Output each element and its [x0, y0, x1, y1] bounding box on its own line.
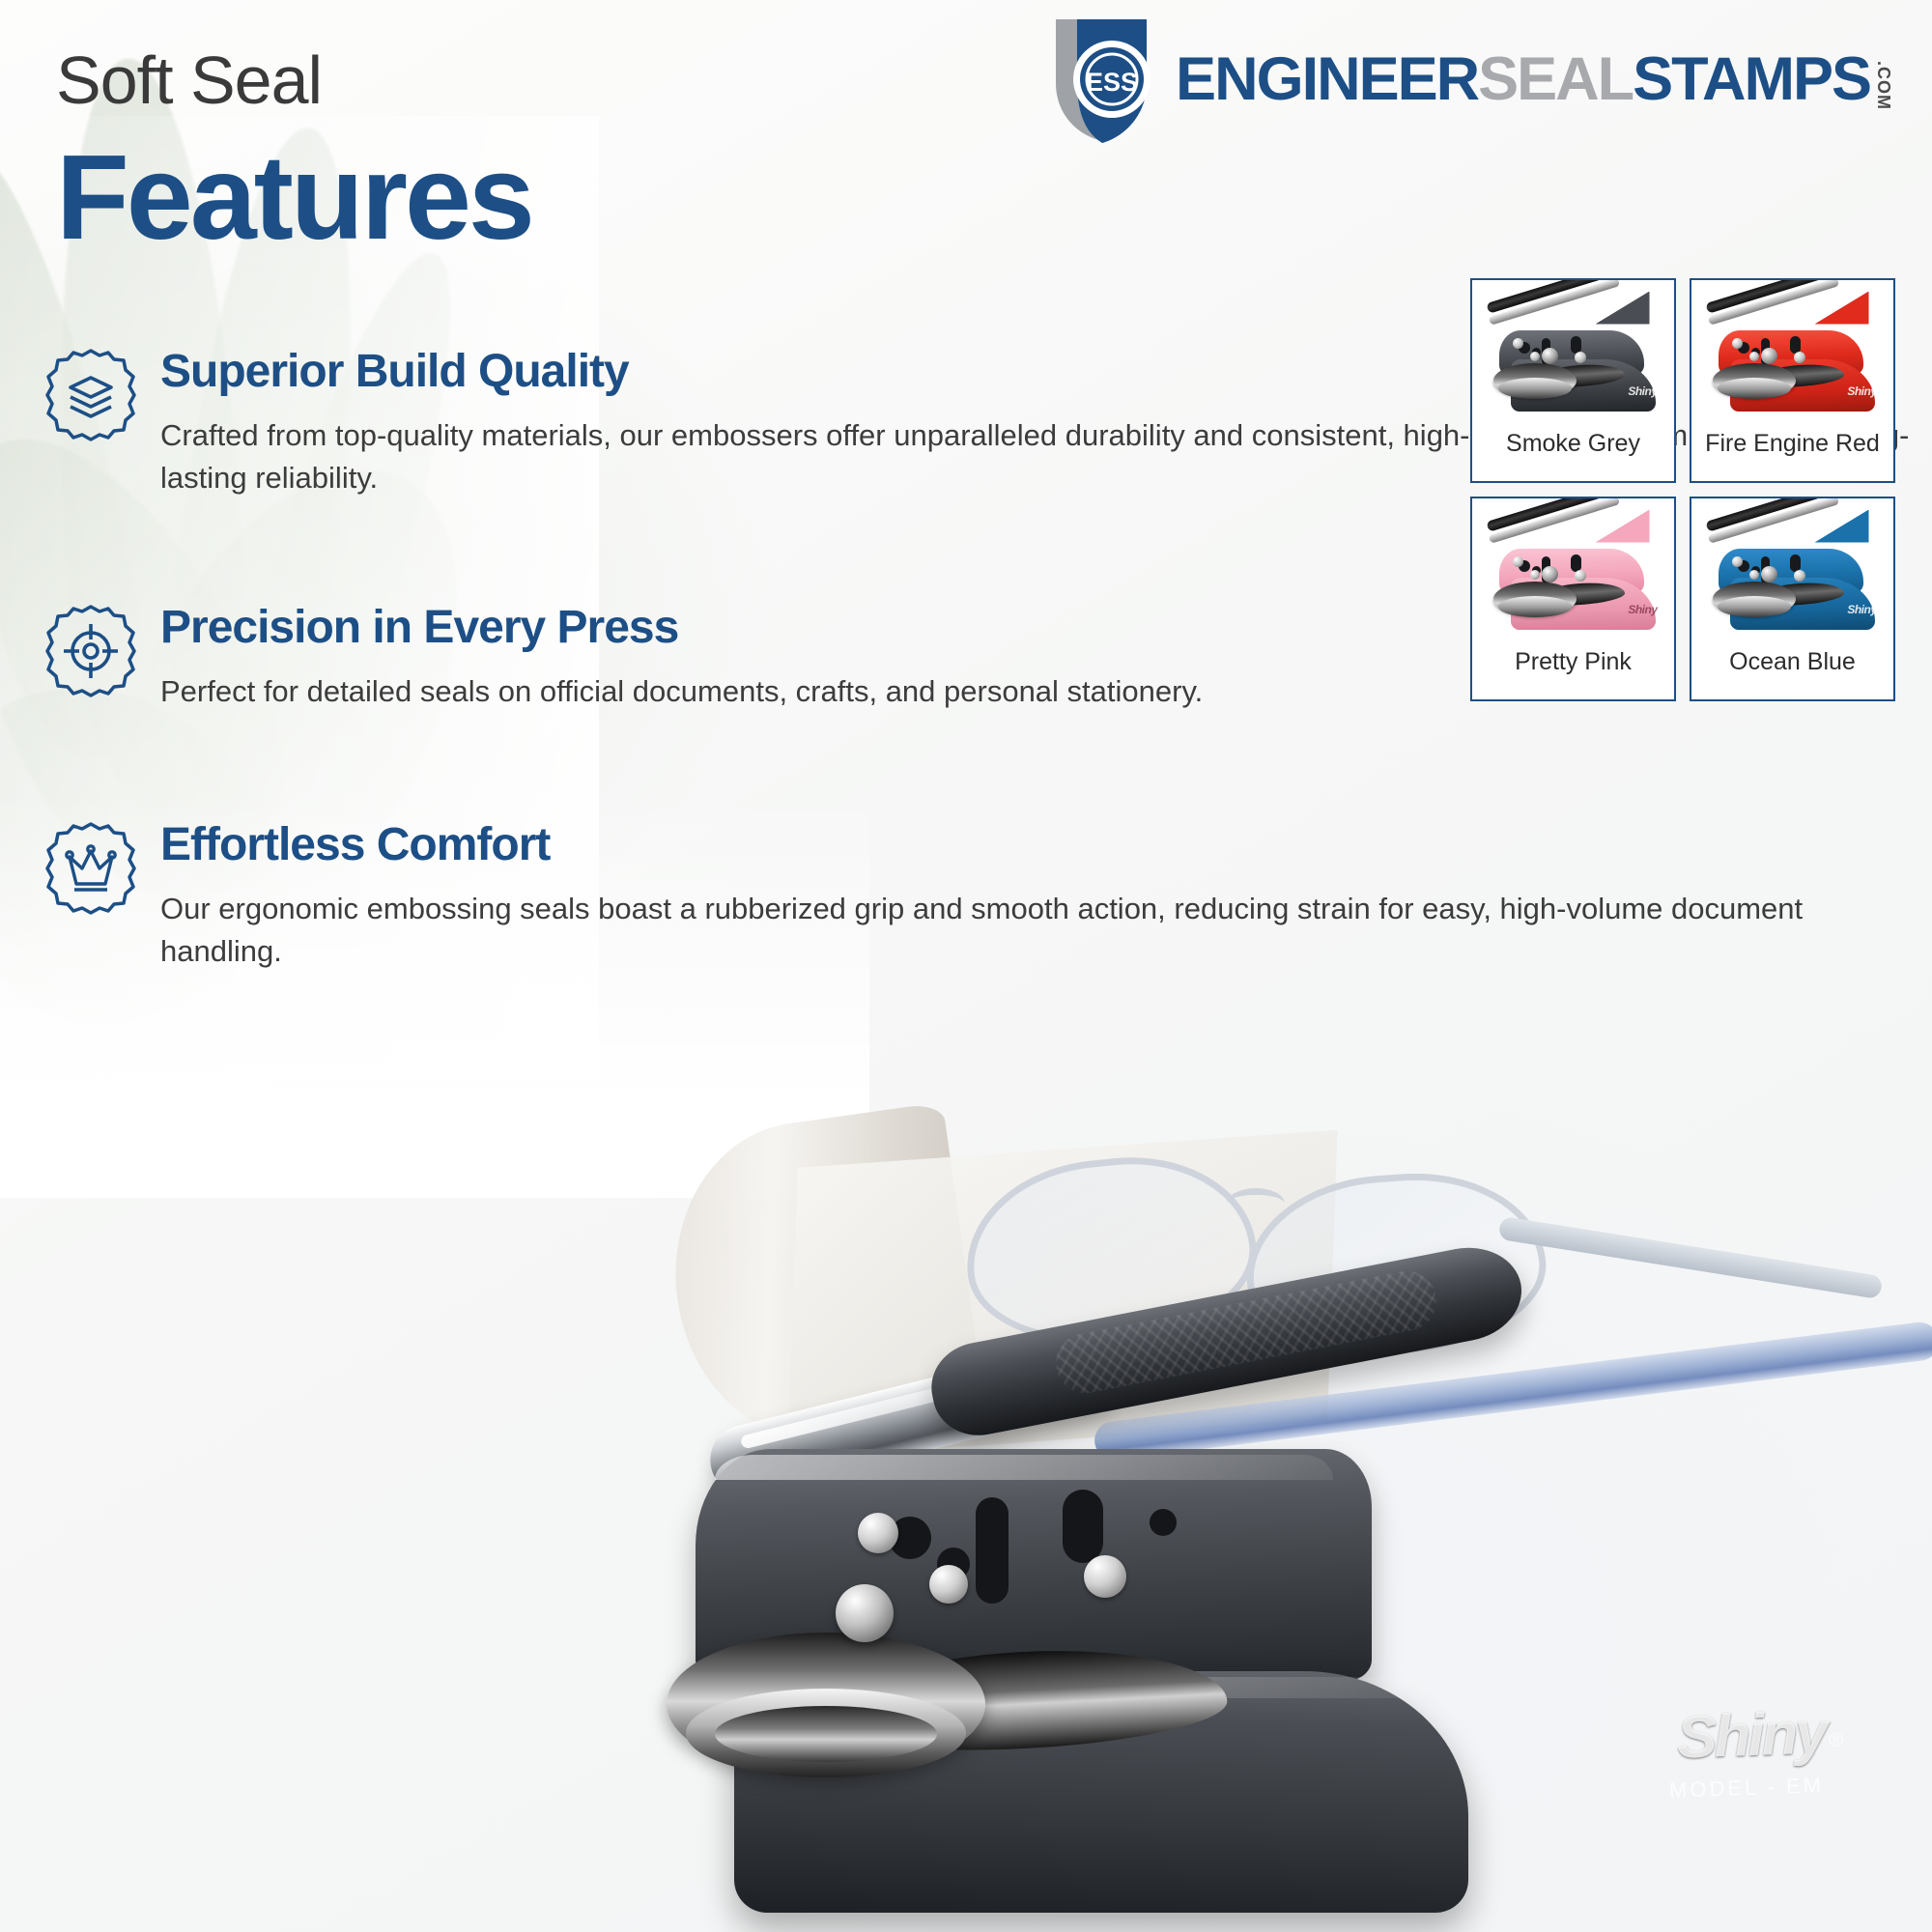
- embosser-thumbnail-fire-engine-red: Shiny: [1691, 280, 1893, 420]
- eyeglasses-temple: [1498, 1216, 1884, 1299]
- head-stud: [929, 1565, 968, 1604]
- wordmark-engineer: ENGINEER: [1176, 49, 1478, 110]
- color-options-grid: Shiny Smoke Grey Shiny F: [1470, 278, 1895, 701]
- feature-title: Effortless Comfort: [160, 820, 1932, 870]
- head-stud: [858, 1513, 898, 1553]
- brand-wordmark: ENGINEER SEAL STAMPS .COM: [1176, 49, 1893, 110]
- feature-item-precision-in-every-press: Precision in Every Press Perfect for det…: [44, 599, 1203, 713]
- product-photo-embosser: Shiny ® MODEL - EM: [647, 1130, 1932, 1932]
- embosser-thumbnail-ocean-blue: Shiny: [1691, 498, 1893, 639]
- embosser-die-wheel: [715, 1706, 937, 1762]
- shiny-brand-mark: Shiny: [1676, 1698, 1827, 1772]
- color-option-label: Ocean Blue: [1729, 650, 1856, 674]
- head-hole: [1150, 1509, 1177, 1536]
- svg-text:ESS: ESS: [1086, 68, 1138, 97]
- head-slot: [1063, 1490, 1103, 1563]
- ess-shield-gear-logo-icon: ESS: [1038, 14, 1162, 145]
- embosser-head-highlight: [715, 1455, 1333, 1480]
- feature-item-effortless-comfort: Effortless Comfort Our ergonomic embossi…: [44, 816, 1932, 973]
- crown-seal-badge-icon: [44, 820, 137, 917]
- wordmark-seal: SEAL: [1478, 49, 1633, 110]
- brand-logo[interactable]: ESS ENGINEER SEAL STAMPS .COM: [1038, 14, 1893, 145]
- color-option-label: Fire Engine Red: [1705, 432, 1880, 456]
- layers-seal-badge-icon: [44, 347, 137, 443]
- color-option-label: Smoke Grey: [1506, 432, 1640, 456]
- feature-body: Our ergonomic embossing seals boast a ru…: [160, 888, 1932, 973]
- color-option-pretty-pink[interactable]: Shiny Pretty Pink: [1470, 497, 1676, 701]
- color-option-ocean-blue[interactable]: Shiny Ocean Blue: [1690, 497, 1895, 701]
- target-seal-badge-icon: [44, 603, 137, 699]
- head-stud: [1084, 1555, 1126, 1598]
- embosser-thumbnail-smoke-grey: Shiny: [1472, 280, 1674, 420]
- wordmark-stamps: STAMPS: [1633, 49, 1870, 110]
- feature-title: Precision in Every Press: [160, 603, 1203, 653]
- page-title: Features: [56, 135, 532, 261]
- color-option-label: Pretty Pink: [1515, 650, 1632, 674]
- feature-body: Perfect for detailed seals on official d…: [160, 670, 1203, 713]
- registered-mark: ®: [1829, 1730, 1843, 1752]
- wordmark-tld: .COM: [1873, 61, 1893, 110]
- color-option-fire-engine-red[interactable]: Shiny Fire Engine Red: [1690, 278, 1895, 483]
- color-option-smoke-grey[interactable]: Shiny Smoke Grey: [1470, 278, 1676, 483]
- head-slot: [976, 1497, 1009, 1604]
- eyebrow-title: Soft Seal: [56, 46, 322, 114]
- model-number-text: MODEL - EM: [1669, 1773, 1825, 1804]
- embosser-thumbnail-pretty-pink: Shiny: [1472, 498, 1674, 639]
- embosser-pivot-screw: [836, 1584, 894, 1642]
